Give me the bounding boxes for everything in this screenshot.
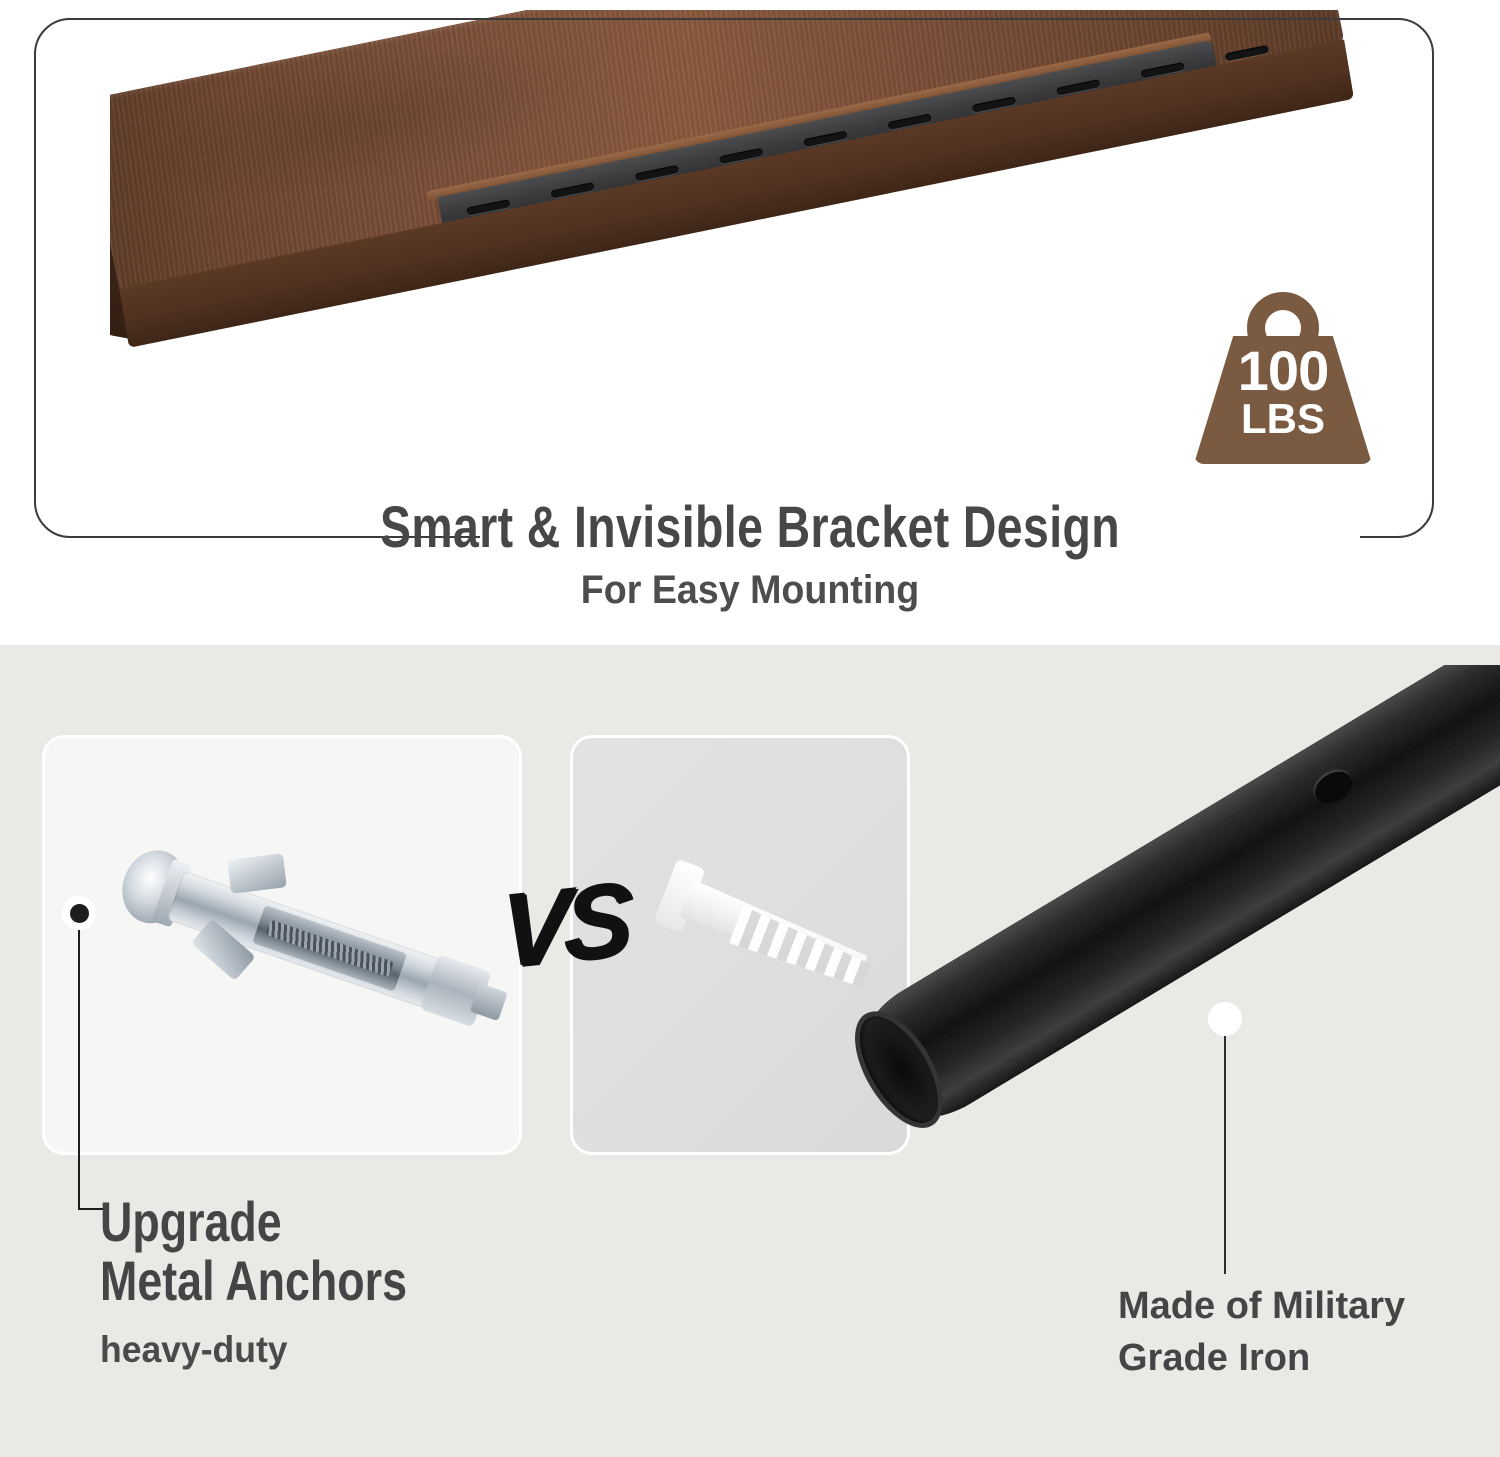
weight-unit: LBS (1188, 399, 1378, 439)
iron-tube (846, 665, 1500, 1138)
weight-badge-text: 100 LBS (1188, 344, 1378, 439)
hero-title: Smart & Invisible Bracket Design (150, 494, 1350, 561)
iron-tube-callout-line (1224, 1036, 1226, 1274)
weight-capacity-badge: 100 LBS (1188, 292, 1378, 464)
tube-drill-hole (1309, 765, 1358, 810)
tube-open-end (844, 1004, 954, 1136)
left-feature-line2: Metal Anchors (100, 1251, 407, 1310)
right-feature-line2: Grade Iron (1118, 1332, 1405, 1384)
iron-tube-callout-ring (1208, 1002, 1242, 1036)
hero-subtitle: For Easy Mounting (45, 568, 1455, 613)
metal-anchor-icon (85, 788, 522, 1098)
metal-anchor-callout-line (78, 930, 80, 1210)
versus-mark: VS (500, 839, 669, 1008)
anchor-wing-upper (227, 853, 287, 894)
product-feature-graphic: 100 LBS Smart & Invisible Bracket Design… (0, 0, 1500, 1457)
right-feature-line1: Made of Military (1118, 1280, 1405, 1332)
weight-value: 100 (1188, 344, 1378, 397)
left-feature-text: Upgrade Metal Anchors heavy-duty (100, 1192, 484, 1371)
top-panel: 100 LBS Smart & Invisible Bracket Design… (0, 0, 1500, 645)
metal-anchor-callout-dot (62, 896, 96, 930)
right-feature-text: Made of Military Grade Iron (1118, 1280, 1405, 1385)
metal-anchor-card (42, 735, 522, 1155)
iron-tube-illustration (820, 665, 1500, 1225)
left-feature-sub: heavy-duty (100, 1329, 468, 1371)
left-feature-line1: Upgrade (100, 1192, 407, 1251)
